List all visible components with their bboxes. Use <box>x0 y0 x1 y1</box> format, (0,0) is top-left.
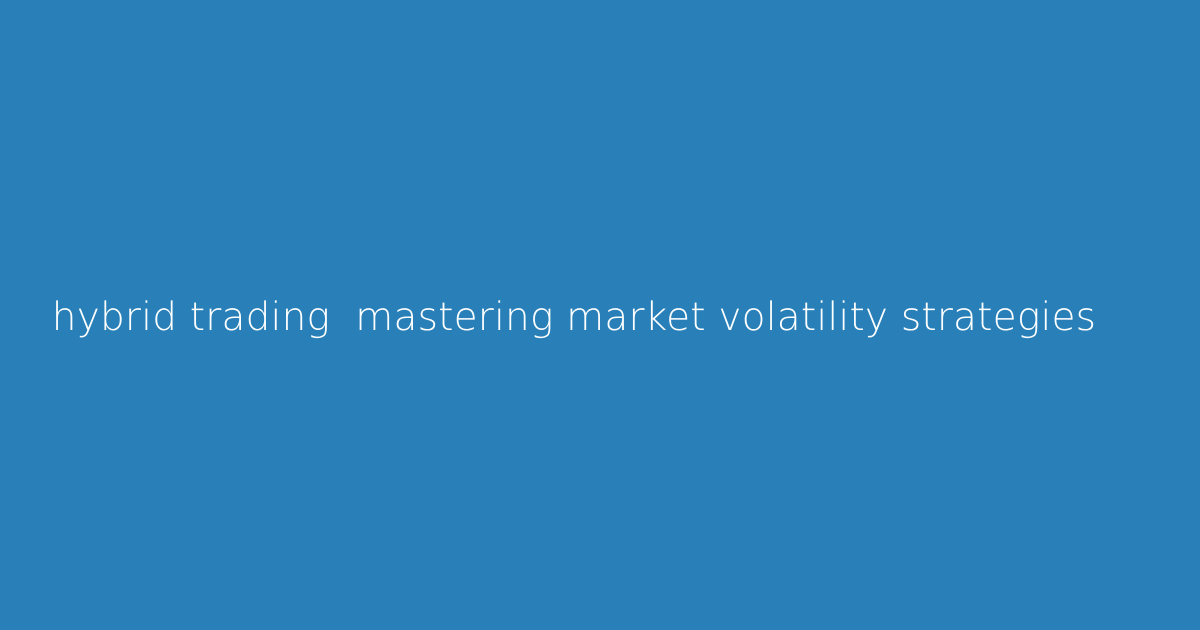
placeholder-card: hybrid trading mastering market volatili… <box>0 0 1200 630</box>
card-title: hybrid trading mastering market volatili… <box>0 296 1174 341</box>
